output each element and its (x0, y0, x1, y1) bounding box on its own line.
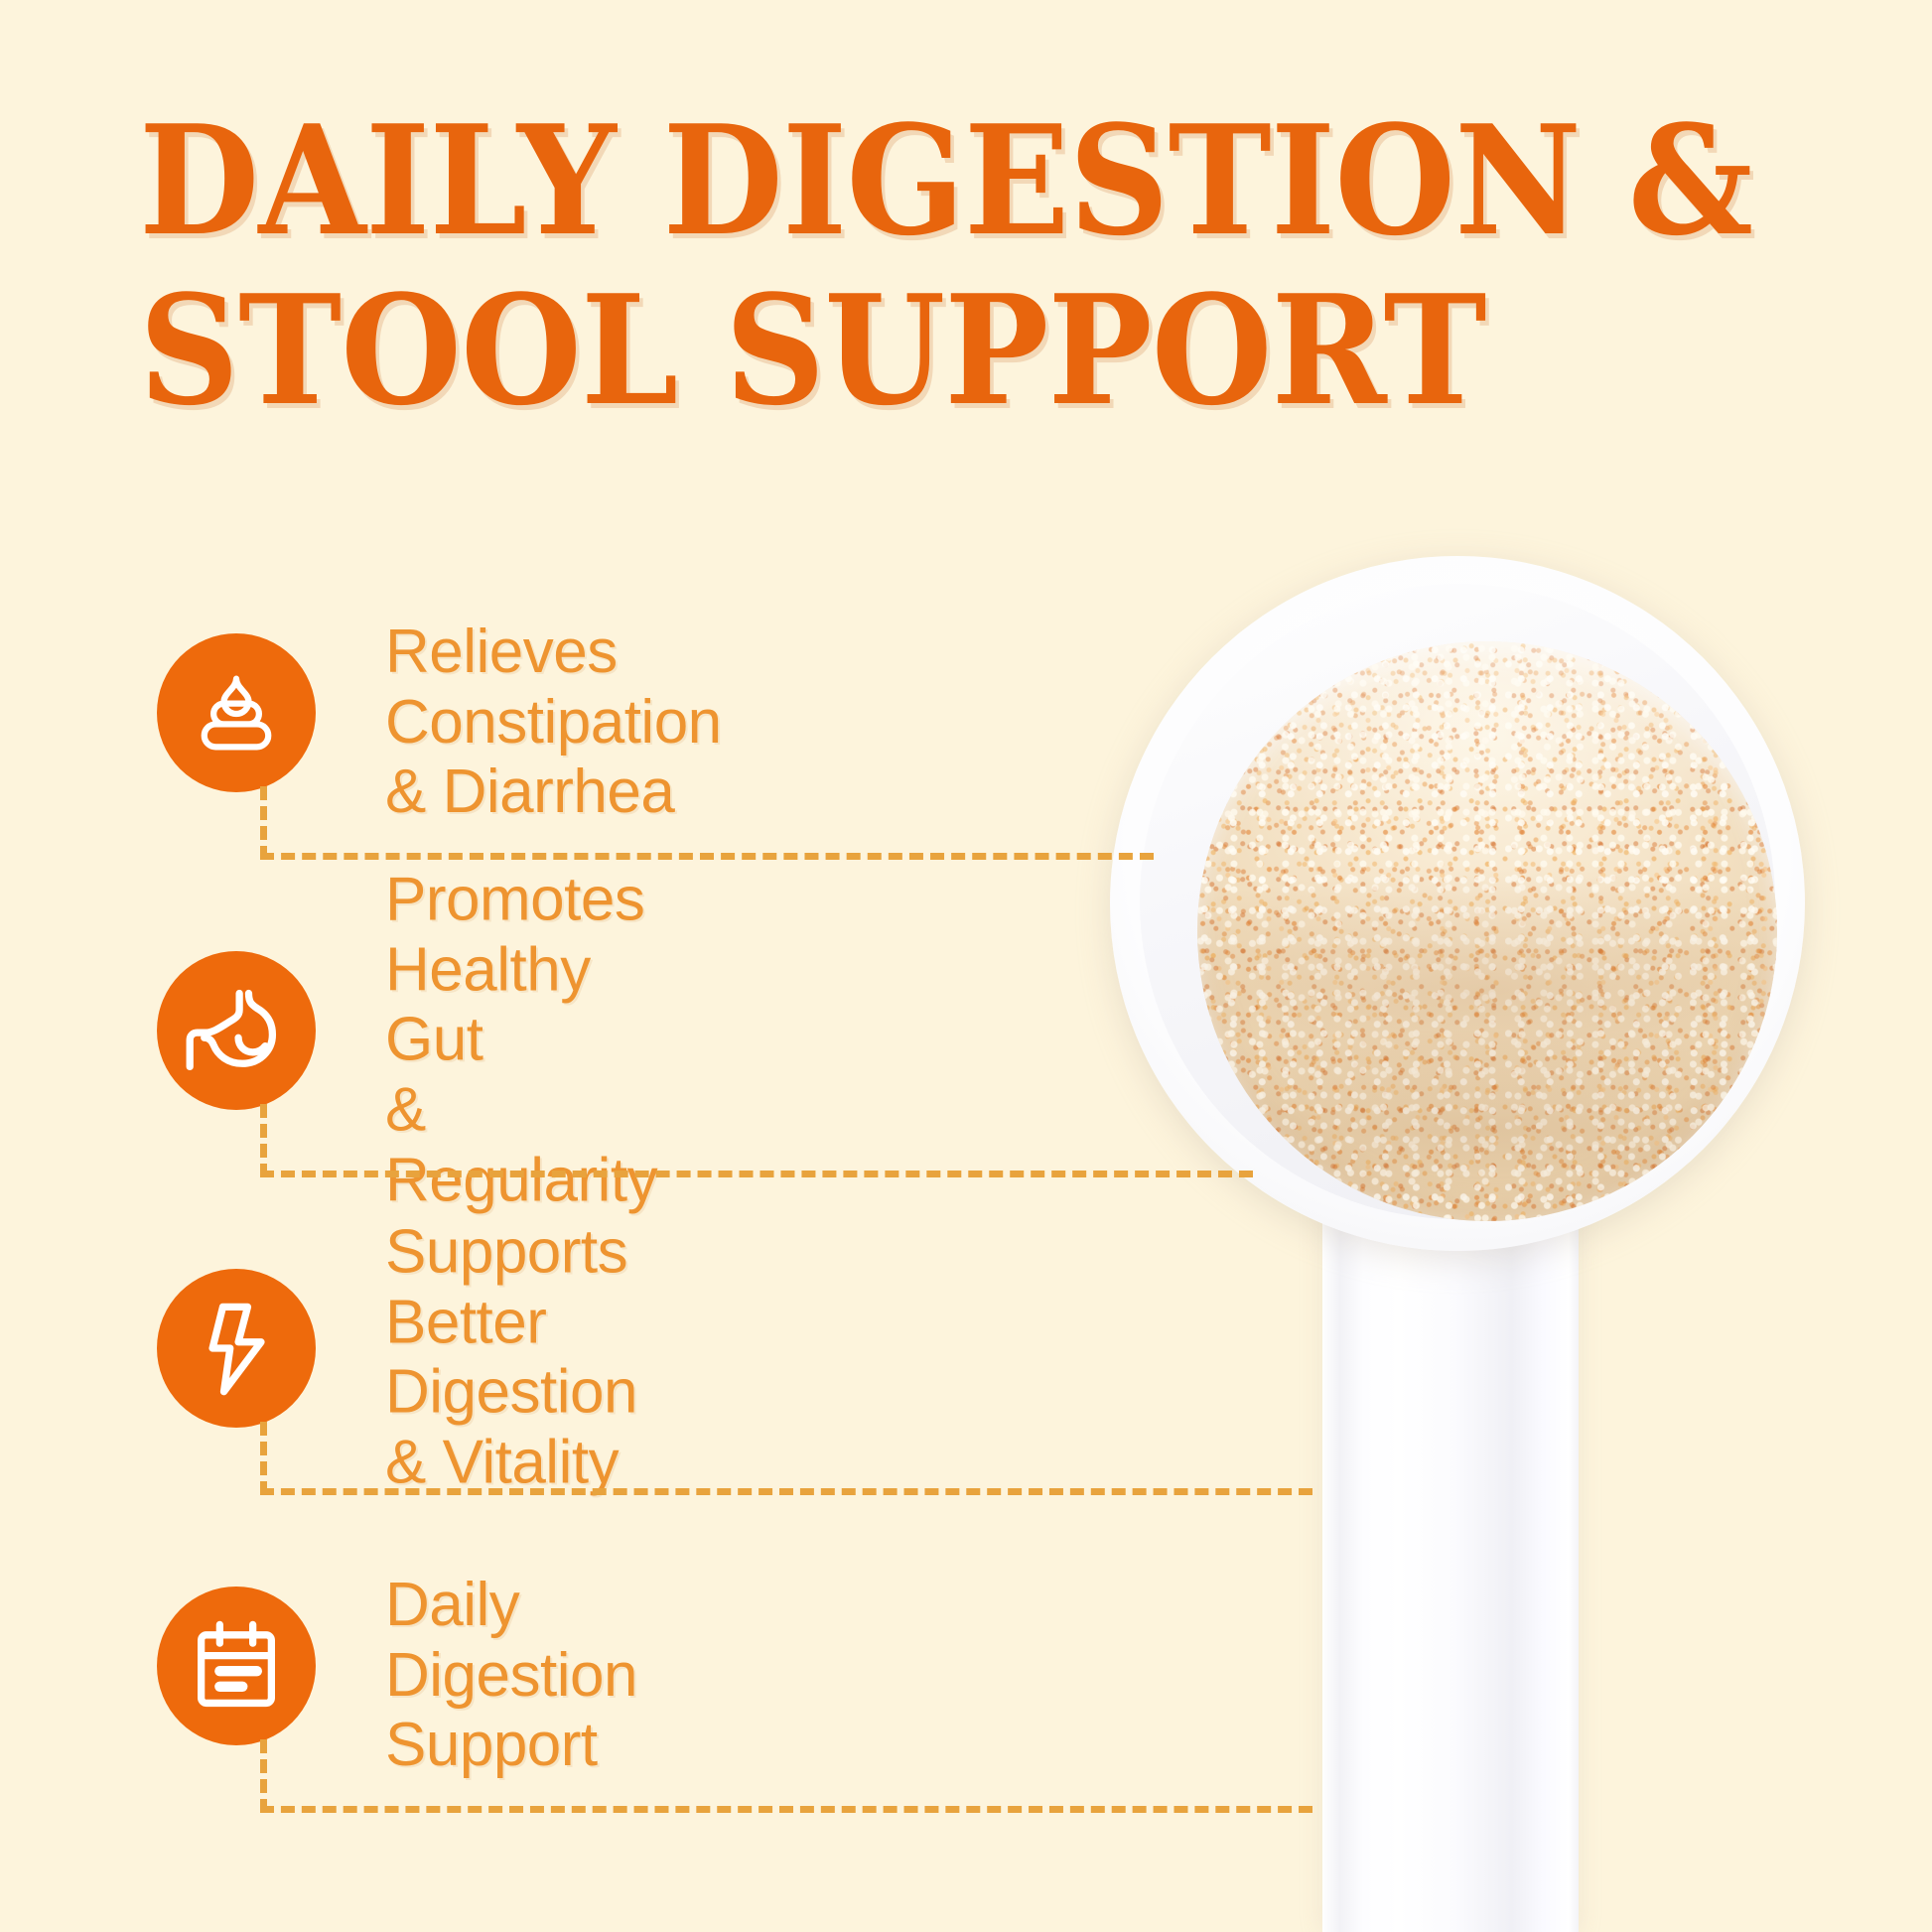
connector-vertical-segment (260, 1104, 267, 1177)
infographic-canvas: Daily Digestion & Stool Support (0, 0, 1932, 1932)
title-line-2: Stool Support (139, 277, 1674, 425)
lightning-bolt-icon (157, 1269, 316, 1428)
connector-vertical-segment (260, 786, 267, 860)
feature-label: Promotes Healthy Gut & Regularity (385, 865, 657, 1215)
calendar-icon (157, 1587, 316, 1745)
connector-horizontal-segment (260, 1806, 1312, 1813)
feature-label: Daily Digestion Support (385, 1571, 637, 1781)
feature-label: Relieves Constipation & Diarrhea (385, 618, 722, 828)
feature-label: Supports Better Digestion & Vitality (385, 1218, 637, 1499)
connector-horizontal-segment (260, 853, 1154, 860)
page-title: Daily Digestion & Stool Support (139, 107, 1807, 425)
poop-icon (157, 633, 316, 792)
feature-list: Relieves Constipation & Diarrhea Promote… (0, 616, 1932, 1857)
connector-vertical-segment (260, 1422, 267, 1495)
title-line-1: Daily Digestion & (139, 107, 1674, 255)
stomach-icon (157, 951, 316, 1110)
connector-vertical-segment (260, 1739, 267, 1813)
